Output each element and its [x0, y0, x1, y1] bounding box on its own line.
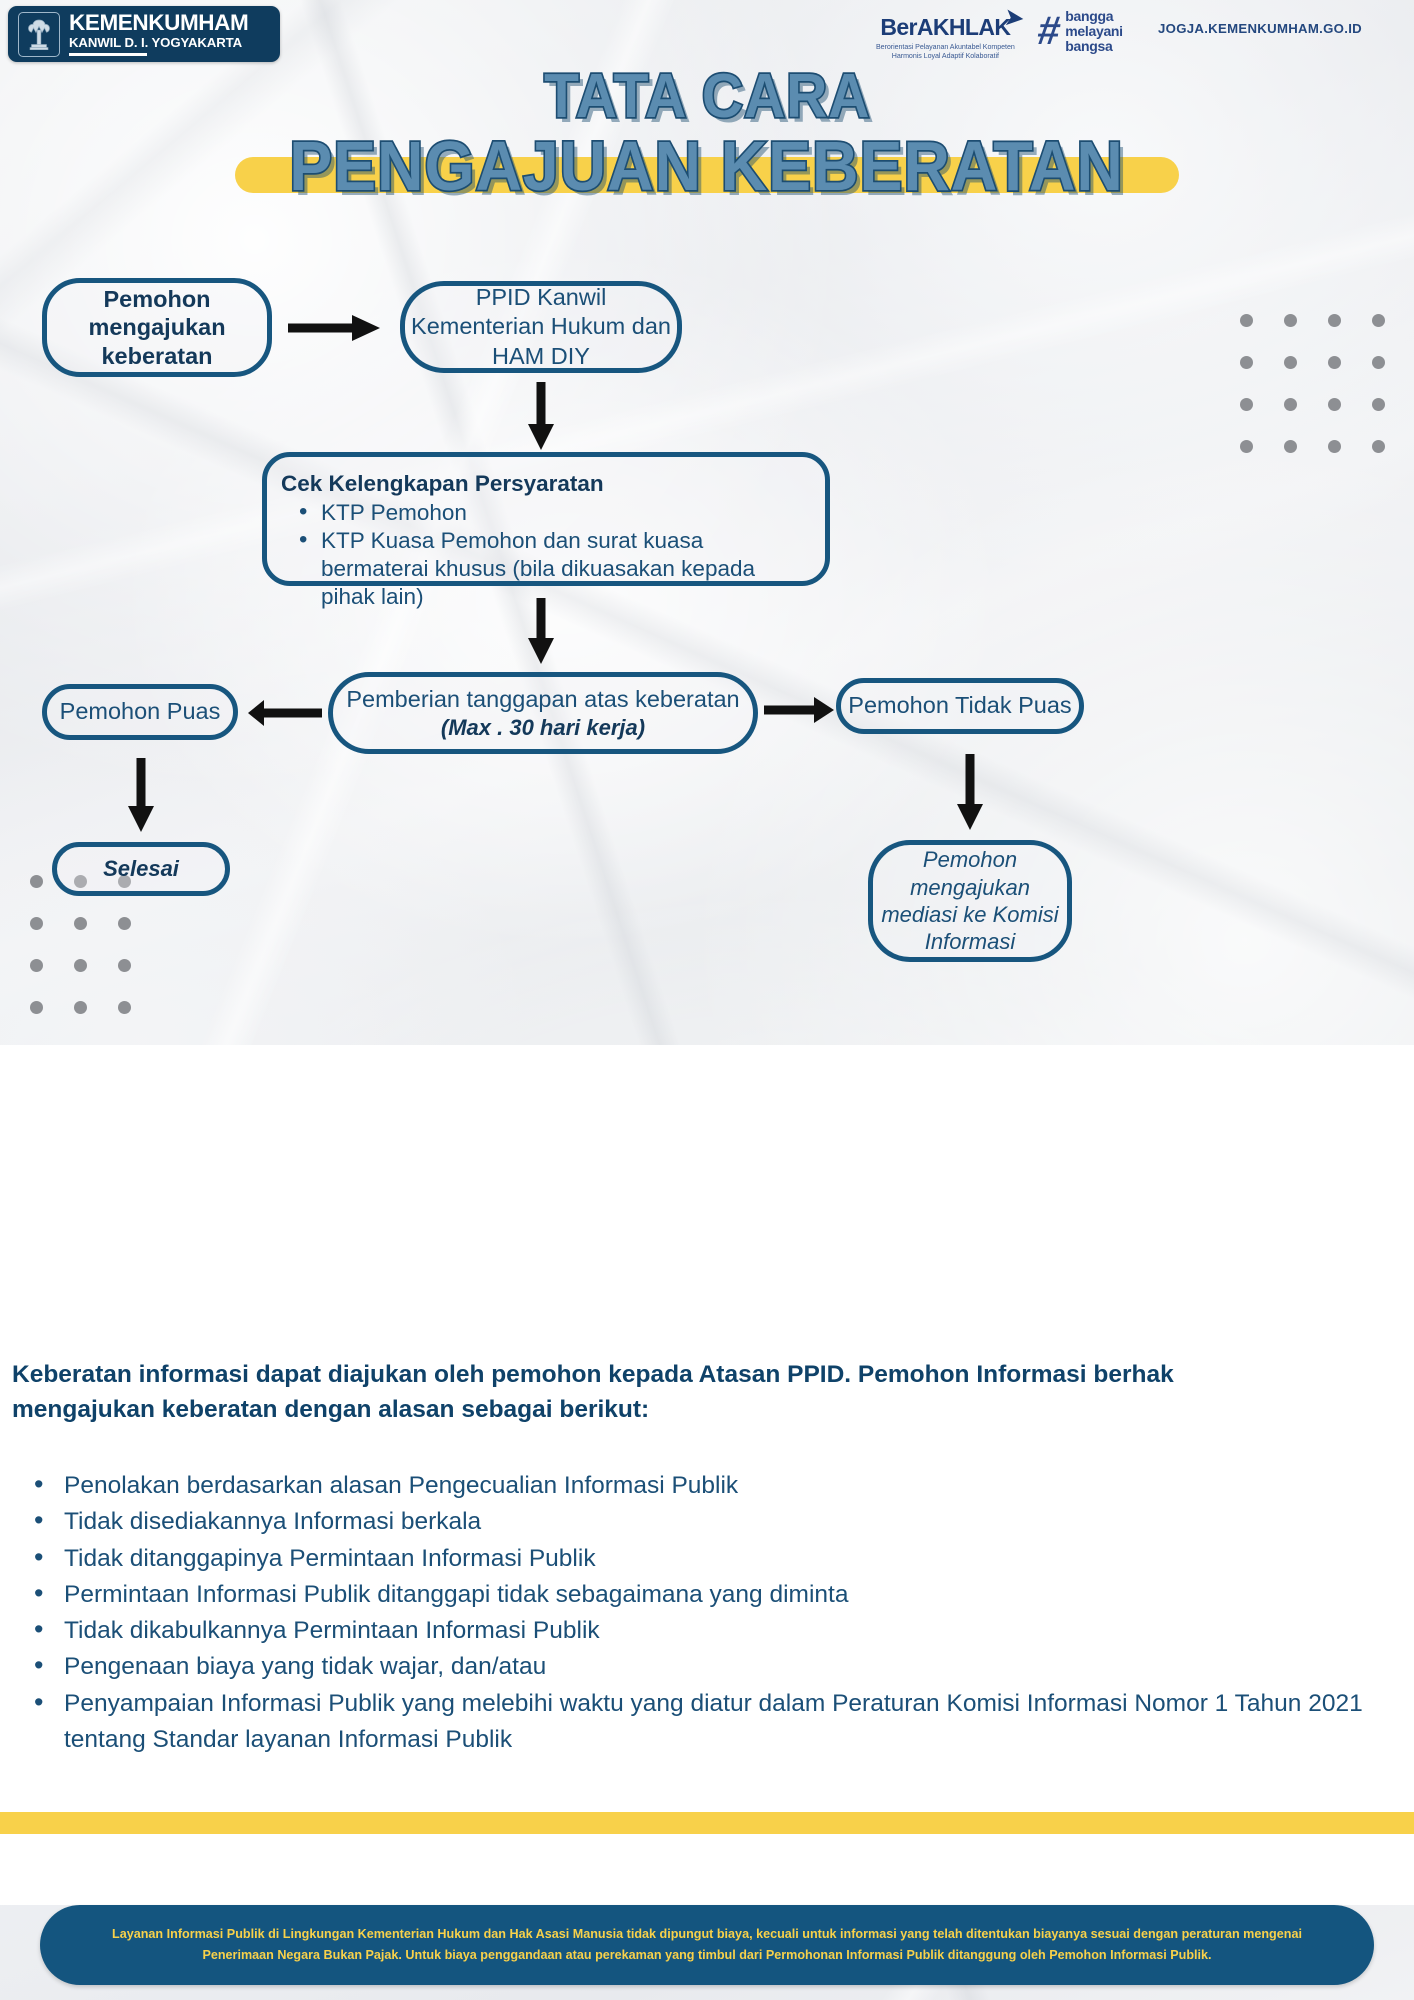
dot-grid-left	[0, 875, 166, 1035]
mediation-line-3: mediasi ke Komisi	[881, 901, 1058, 928]
arrow-check-to-response	[526, 596, 556, 666]
arrow-response-to-satisfied	[246, 698, 324, 728]
footer-disclaimer: Layanan Informasi Publik di Lingkungan K…	[40, 1905, 1374, 1985]
title-line-2: PENGAJUAN KEBERATAN	[290, 133, 1124, 200]
flow-box-check-requirements: Cek Kelengkapan Persyaratan KTP Pemohon …	[262, 452, 830, 586]
list-item: Pengenaan biaya yang tidak wajar, dan/at…	[22, 1649, 1392, 1685]
flow-box-done: Selesai	[52, 842, 230, 896]
flow-box-response: Pemberian tanggapan atas keberatan (Max …	[328, 672, 758, 754]
banyan-tree-scales-emblem-icon	[18, 12, 60, 57]
arrow-response-to-unsatisfied	[762, 695, 836, 725]
footer-disclaimer-text: Layanan Informasi Publik di Lingkungan K…	[92, 1924, 1322, 1965]
flow-box-unsatisfied: Pemohon Tidak Puas	[836, 678, 1084, 734]
list-item: Tidak ditanggapinya Permintaan Informasi…	[22, 1541, 1392, 1577]
website-url: JOGJA.KEMENKUMHAM.GO.ID	[1158, 21, 1362, 36]
list-item: Tidak dikabulkannya Permintaan Informasi…	[22, 1613, 1392, 1649]
mediation-line-2: mengajukan	[881, 874, 1058, 901]
berakhlak-logo: BerAKHLAK ➤ Berorientasi Pelayanan Akunt…	[876, 14, 1015, 62]
check-requirements-list: KTP Pemohon KTP Kuasa Pemohon dan surat …	[281, 499, 805, 611]
list-item: Tidak disediakannya Informasi berkala	[22, 1504, 1392, 1540]
title-line-1: TATA CARA	[544, 68, 870, 127]
agency-logo-plate: KEMENKUMHAM KANWIL D. I. YOGYAKARTA	[8, 6, 280, 62]
flow-box-applicant: Pemohon mengajukan keberatan	[42, 278, 272, 377]
flow-box-ppid: PPID Kanwil Kementerian Hukum dan HAM DI…	[400, 281, 682, 373]
mediation-line-4: Informasi	[881, 928, 1058, 955]
arrow-applicant-to-ppid	[286, 313, 382, 343]
berakhlak-tagline-line2: Harmonis Loyal Adaptif Kolaboratif	[876, 52, 1015, 61]
response-line-2: (Max . 30 hari kerja)	[441, 715, 645, 741]
yellow-divider-bar	[0, 1812, 1414, 1834]
arrow-ppid-to-check	[526, 380, 556, 452]
chevron-up-right-icon: ➤	[1003, 4, 1023, 32]
bangga-line2: melayani	[1065, 24, 1123, 39]
agency-name-line2: KANWIL D. I. YOGYAKARTA	[69, 36, 248, 49]
dot-grid-right	[1240, 314, 1410, 464]
logo-underline	[69, 53, 147, 56]
mediation-line-1: Pemohon	[881, 846, 1058, 873]
bangga-line1: bangga	[1065, 9, 1123, 24]
ppid-line-2: Kementerian Hukum dan	[411, 312, 671, 342]
applicant-line-2: mengajukan	[88, 313, 225, 342]
berakhlak-tagline-line1: Berorientasi Pelayanan Akuntabel Kompete…	[876, 43, 1015, 52]
lead-paragraph: Keberatan informasi dapat diajukan oleh …	[12, 1358, 1282, 1428]
list-item: Permintaan Informasi Publik ditanggapi t…	[22, 1577, 1392, 1613]
applicant-line-1: Pemohon	[88, 285, 225, 314]
berakhlak-wordmark: BerAKHLAK	[880, 14, 1010, 40]
flow-box-satisfied: Pemohon Puas	[42, 684, 238, 740]
done-label: Selesai	[103, 856, 179, 882]
hashtag-icon: #	[1035, 11, 1063, 51]
arrow-satisfied-to-done	[126, 756, 156, 834]
check-title: Cek Kelengkapan Persyaratan	[281, 471, 805, 497]
flow-box-mediation: Pemohon mengajukan mediasi ke Komisi Inf…	[868, 840, 1072, 962]
agency-name-line1: KEMENKUMHAM	[69, 12, 248, 35]
arrow-unsatisfied-to-mediation	[955, 752, 985, 832]
list-item: Penolakan berdasarkan alasan Pengecualia…	[22, 1468, 1392, 1504]
unsatisfied-label: Pemohon Tidak Puas	[848, 691, 1071, 721]
bangga-line3: bangsa	[1065, 39, 1123, 54]
poster-title: TATA CARA PENGAJUAN KEBERATAN	[0, 68, 1414, 199]
ppid-line-1: PPID Kanwil	[411, 283, 671, 313]
bangga-melayani-bangsa-logo: # bangga melayani bangsa	[1038, 9, 1123, 53]
list-item: KTP Pemohon	[289, 499, 805, 527]
response-line-1: Pemberian tanggapan atas keberatan	[346, 685, 739, 715]
applicant-line-3: keberatan	[88, 342, 225, 371]
ppid-line-3: HAM DIY	[411, 342, 671, 372]
list-item: Penyampaian Informasi Publik yang melebi…	[22, 1686, 1392, 1759]
satisfied-label: Pemohon Puas	[60, 697, 221, 727]
reasons-list: Penolakan berdasarkan alasan Pengecualia…	[22, 1468, 1392, 1758]
